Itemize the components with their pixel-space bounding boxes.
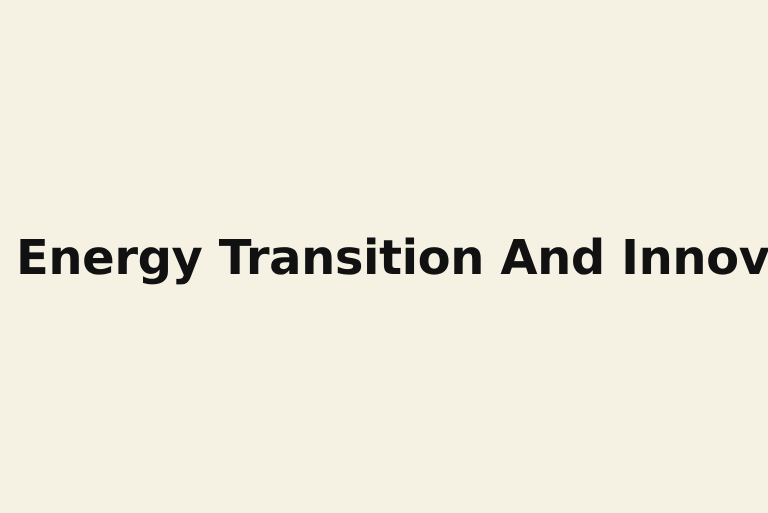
page-title: Energy Transition And Innovation	[16, 233, 768, 285]
title-card: Energy Transition And Innovation	[0, 0, 768, 513]
